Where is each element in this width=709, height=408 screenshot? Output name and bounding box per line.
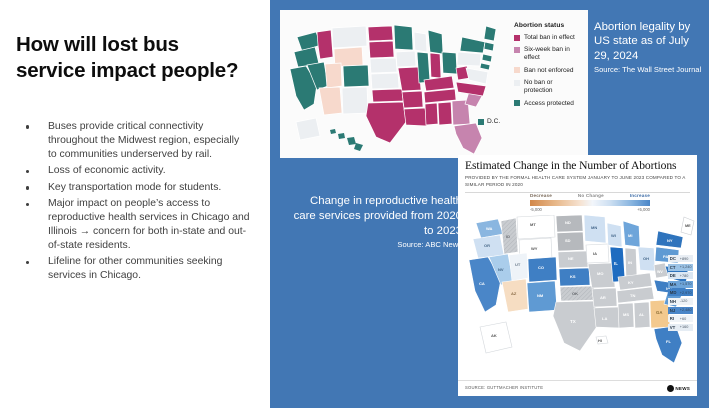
svg-text:AK: AK (491, 333, 497, 338)
state-value: +2,970 (680, 291, 692, 295)
svg-text:ME: ME (685, 224, 691, 228)
legend-label: Ban not enforced (524, 67, 574, 75)
legend-swatch (514, 35, 520, 41)
state-abbr: DC (670, 256, 680, 261)
bullet-dot-icon (26, 261, 29, 264)
dc-marker: D.C. (478, 118, 500, 125)
state-value: +1,240 (680, 265, 692, 269)
abortion-change-chart-card: Estimated Change in the Number of Aborti… (458, 155, 697, 396)
caption-top-source: Source: The Wall Street Journal (594, 65, 702, 74)
state-abbr: NH (670, 299, 680, 304)
svg-text:AL: AL (639, 312, 645, 317)
state-abbr: CT (670, 265, 680, 270)
svg-text:NE: NE (568, 256, 574, 261)
legend-item: Total ban in effect (514, 34, 582, 42)
svg-text:AR: AR (600, 295, 606, 300)
svg-text:SD: SD (565, 238, 571, 243)
svg-text:IL: IL (614, 261, 618, 266)
svg-text:UT: UT (515, 262, 521, 267)
state-abbr: MA (670, 282, 680, 287)
svg-text:KY: KY (628, 280, 634, 285)
caption-middle-text: Change in reproductive health care servi… (286, 194, 462, 238)
svg-text:LA: LA (602, 316, 607, 321)
svg-text:CO: CO (538, 265, 544, 270)
state-value: -120 (680, 299, 688, 303)
svg-text:FL: FL (666, 339, 671, 344)
legend-label: Access protected (524, 100, 574, 108)
svg-text:WY: WY (531, 246, 538, 251)
svg-text:WV: WV (657, 270, 663, 274)
svg-text:OK: OK (572, 291, 578, 296)
bullet-text: Major impact on people’s access to repro… (48, 198, 250, 251)
legend-item: Access protected (514, 100, 582, 108)
legend-label: Total ban in effect (524, 34, 575, 42)
state-value: +780 (680, 274, 689, 278)
svg-text:GA: GA (656, 310, 662, 315)
svg-text:MN: MN (591, 225, 597, 230)
state-callout: NJ+2,480 (668, 307, 693, 314)
bullet-dot-icon (26, 170, 29, 173)
us-choropleth-map (280, 12, 508, 158)
svg-text:WI: WI (611, 233, 616, 238)
svg-text:AZ: AZ (511, 291, 517, 296)
state-abbr: MD (670, 290, 680, 295)
state-abbr: NJ (670, 308, 680, 313)
state-value: +60 (680, 317, 686, 321)
abc-news-logo: NEWS (667, 385, 690, 392)
list-item: Key transportation mode for students. (18, 181, 250, 195)
colorbar-low-label: Decrease (530, 193, 552, 198)
colorbar-mid-label: No Change (578, 193, 604, 198)
state-value: +890 (680, 257, 689, 261)
svg-text:MO: MO (597, 271, 603, 276)
svg-text:KS: KS (570, 274, 576, 279)
bullet-dot-icon (26, 125, 29, 128)
left-content-panel: How will lost bus service impact people?… (0, 0, 270, 408)
caption-top-text: Abortion legality by US state as of July… (594, 20, 702, 63)
svg-text:ND: ND (565, 220, 571, 225)
abc-logo-text: NEWS (675, 386, 690, 391)
legend-rows: Total ban in effectSix-week ban in effec… (514, 34, 582, 107)
state-callout: MA+1,570 (668, 281, 693, 288)
slide: How will lost bus service impact people?… (0, 0, 709, 408)
legend-swatch (514, 47, 520, 53)
svg-text:IN: IN (628, 260, 632, 265)
svg-text:MT: MT (530, 222, 536, 227)
bullet-dot-icon (26, 203, 29, 206)
caption-reproductive-services: Change in reproductive health care servi… (286, 194, 462, 250)
state-callout: VT+160 (668, 324, 693, 331)
list-item: Buses provide critical connectivity thro… (18, 120, 250, 162)
colorbar-min-value: -5,000 (530, 207, 542, 212)
state-value: +2,480 (680, 308, 692, 312)
legend-swatch (514, 80, 520, 86)
abortion-change-choropleth: WA OR CA NV ID MT WY UT AZ CO (458, 215, 697, 375)
legend-title: Abortion status (514, 22, 582, 29)
chart-colorbar: Decrease No Change Increase -5,000 +5,00… (530, 193, 650, 212)
svg-text:IA: IA (593, 251, 597, 256)
state-callout: NH-120 (668, 298, 693, 305)
state-abbr: DE (670, 273, 680, 278)
caption-middle-source: Source: ABC News (286, 240, 462, 249)
svg-text:MS: MS (623, 312, 629, 317)
chart-subtitle: PROVIDED BY THE FORMAL HEALTH CARE SYSTE… (465, 175, 690, 188)
svg-text:CA: CA (479, 281, 485, 286)
bullet-dot-icon (26, 186, 29, 189)
state-callout: DE+780 (668, 272, 693, 279)
svg-text:OR: OR (484, 243, 490, 248)
state-callout: DC+890 (668, 255, 693, 262)
list-item: Major impact on people’s access to repro… (18, 197, 250, 253)
svg-text:OH: OH (643, 256, 649, 261)
svg-text:MI: MI (628, 233, 632, 238)
bullet-text: Loss of economic activity. (48, 165, 166, 176)
bullet-text: Buses provide critical connectivity thro… (48, 121, 239, 160)
abortion-status-legend: Abortion status Total ban in effectSix-w… (514, 22, 582, 112)
colorbar-gradient (530, 200, 650, 206)
svg-text:HI: HI (598, 339, 602, 343)
bullet-text: Key transportation mode for students. (48, 182, 221, 193)
legend-item: No ban or protection (514, 79, 582, 95)
state-callout: CT+1,240 (668, 264, 693, 271)
state-value: +160 (680, 325, 689, 329)
colorbar-endpoints: -5,000 +5,000 (530, 207, 650, 212)
legend-label: Six-week ban in effect (524, 46, 582, 62)
chart-header: Estimated Change in the Number of Aborti… (458, 155, 697, 188)
chart-title: Estimated Change in the Number of Aborti… (465, 160, 690, 173)
abc-logo-mark (667, 385, 674, 392)
chart-us-map: WA OR CA NV ID MT WY UT AZ CO (458, 215, 697, 375)
svg-text:NY: NY (667, 238, 673, 243)
caption-abortion-legality: Abortion legality by US state as of July… (594, 20, 702, 74)
small-state-callout-list: DC+890CT+1,240DE+780MA+1,570MD+2,970NH-1… (668, 255, 693, 332)
state-abbr: RI (670, 316, 680, 321)
legend-item: Six-week ban in effect (514, 46, 582, 62)
chart-footer: SOURCE: GUTTMACHER INSTITUTE NEWS (458, 380, 697, 396)
svg-text:ID: ID (506, 234, 510, 239)
list-item: Lifeline for other communities seeking s… (18, 255, 250, 283)
page-title: How will lost bus service impact people? (16, 32, 241, 84)
colorbar-high-label: Increase (630, 193, 650, 198)
colorbar-max-value: +5,000 (637, 207, 650, 212)
list-item: Loss of economic activity. (18, 164, 250, 178)
state-abbr: VT (670, 325, 680, 330)
state-callout: MD+2,970 (668, 289, 693, 296)
state-callout: RI+60 (668, 315, 693, 322)
abortion-legality-map-card: Abortion status Total ban in effectSix-w… (280, 10, 588, 158)
legend-item: Ban not enforced (514, 67, 582, 75)
state-value: +1,570 (680, 282, 692, 286)
legend-swatch (514, 67, 520, 73)
bullet-text: Lifeline for other communities seeking s… (48, 256, 222, 281)
svg-text:WA: WA (486, 226, 493, 231)
legend-label: No ban or protection (524, 79, 582, 95)
svg-text:TN: TN (630, 293, 635, 298)
bullet-list: Buses provide critical connectivity thro… (18, 120, 250, 286)
svg-text:NV: NV (498, 267, 504, 272)
dc-label: D.C. (487, 118, 500, 125)
chart-source: SOURCE: GUTTMACHER INSTITUTE (465, 385, 543, 390)
svg-text:TX: TX (570, 319, 576, 324)
colorbar-labels: Decrease No Change Increase (530, 193, 650, 198)
legend-swatch (514, 100, 520, 106)
dc-swatch (478, 119, 484, 125)
svg-text:NM: NM (537, 293, 544, 298)
